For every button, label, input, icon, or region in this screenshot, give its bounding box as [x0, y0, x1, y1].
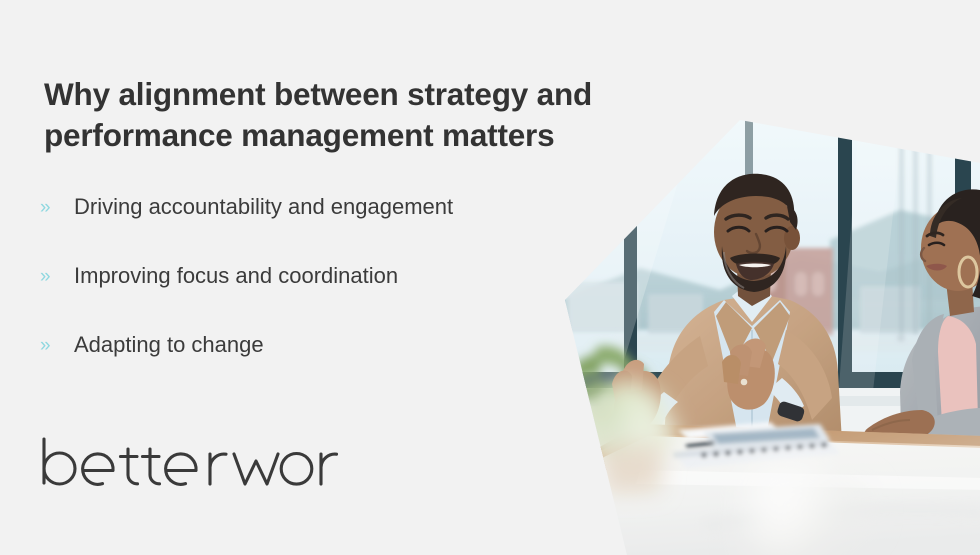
betterworks-wordmark — [40, 437, 340, 493]
double-chevron-icon: » — [40, 262, 51, 292]
double-chevron-icon: » — [40, 193, 51, 223]
page-title: Why alignment between strategy and perfo… — [44, 74, 644, 156]
list-item: » Adapting to change — [40, 330, 640, 399]
list-item: » Driving accountability and engagement — [40, 192, 640, 261]
betterworks-logo: betterworks — [40, 437, 340, 493]
benefit-list: » Driving accountability and engagement … — [40, 192, 640, 399]
list-item: » Improving focus and coordination — [40, 261, 640, 330]
list-item-label: Adapting to change — [74, 330, 264, 360]
text-column: Why alignment between strategy and perfo… — [0, 0, 660, 555]
slide-canvas: Why alignment between strategy and perfo… — [0, 0, 980, 555]
list-item-label: Driving accountability and engagement — [74, 192, 453, 222]
double-chevron-icon: » — [40, 331, 51, 361]
list-item-label: Improving focus and coordination — [74, 261, 398, 291]
